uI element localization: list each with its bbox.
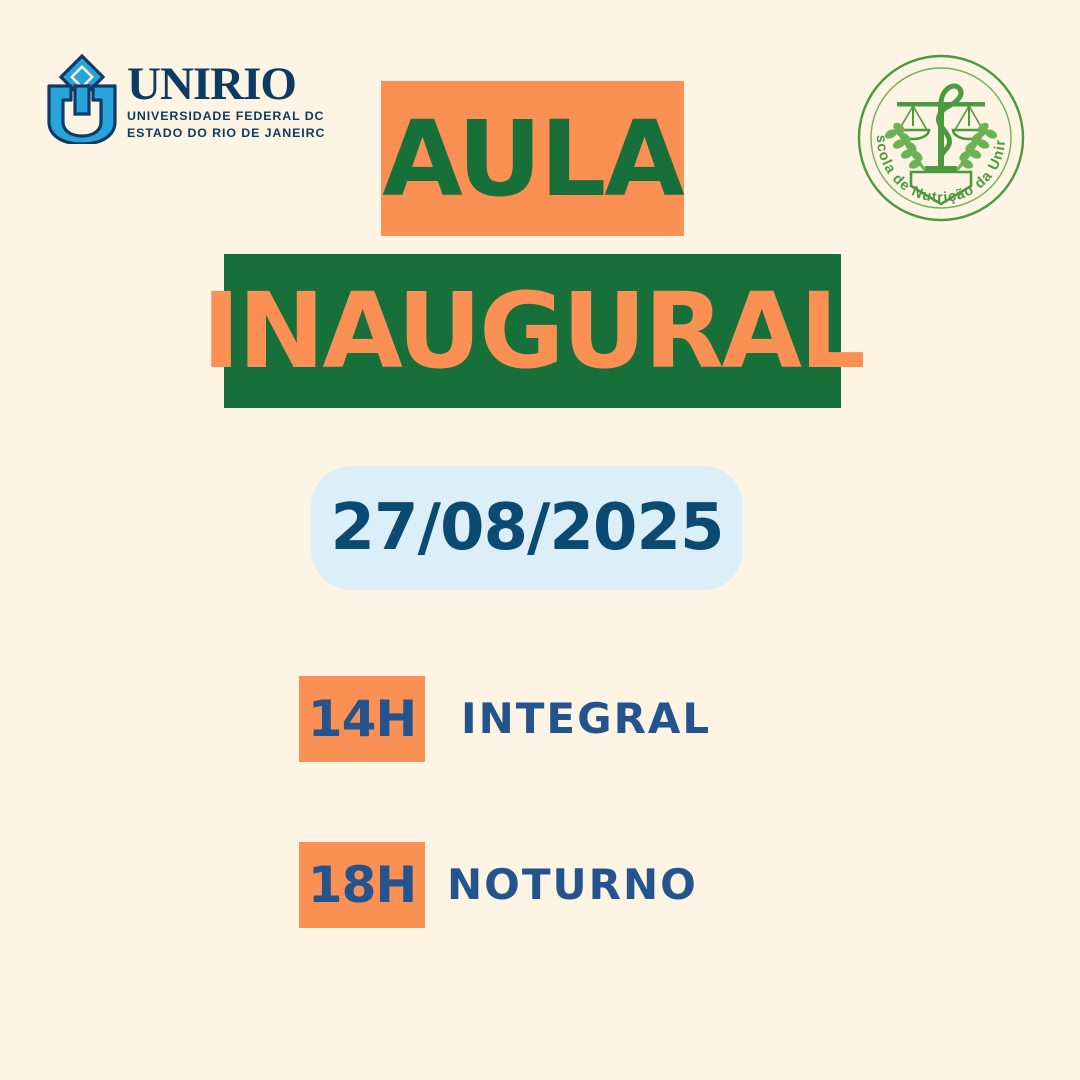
unirio-subtitle-line-2: ESTADO DO RIO DE JANEIRC	[127, 126, 325, 142]
schedule-time-chip-noturno: 18H	[299, 842, 425, 928]
schedule-time-integral: 14H	[308, 694, 416, 744]
schedule-time-chip-integral: 14H	[299, 676, 425, 762]
unirio-logo: UNIRIO UNIVERSIDADE FEDERAL DC ESTADO DO…	[45, 52, 295, 152]
schedule-list: 14H INTEGRAL 18H NOTURNO	[299, 676, 859, 928]
title-block-aula: AULA	[381, 81, 684, 236]
schedule-shift-noturno: NOTURNO	[447, 864, 698, 906]
title-line-inaugural: INAUGURAL	[202, 279, 864, 383]
unirio-wordmark: UNIRIO	[127, 62, 296, 107]
poster-canvas: UNIRIO UNIVERSIDADE FEDERAL DC ESTADO DO…	[0, 0, 1080, 1080]
unirio-subtitle-line-1: UNIVERSIDADE FEDERAL DC	[127, 109, 324, 125]
schedule-time-noturno: 18H	[308, 860, 416, 910]
schedule-row-integral: 14H INTEGRAL	[299, 676, 859, 762]
unirio-wordmark-group: UNIRIO UNIVERSIDADE FEDERAL DC ESTADO DO…	[127, 62, 325, 142]
escola-de-nutricao-seal-icon: Escola de Nutrição da Unirio	[855, 52, 1027, 224]
title-line-aula: AULA	[382, 107, 683, 211]
schedule-shift-integral: INTEGRAL	[461, 698, 711, 740]
event-date-pill: 27/08/2025	[311, 466, 743, 590]
title-block-inaugural: INAUGURAL	[224, 254, 841, 408]
unirio-u-diamond-mark-icon	[45, 52, 119, 144]
schedule-row-noturno: 18H NOTURNO	[299, 842, 859, 928]
event-date-value: 27/08/2025	[331, 496, 724, 560]
